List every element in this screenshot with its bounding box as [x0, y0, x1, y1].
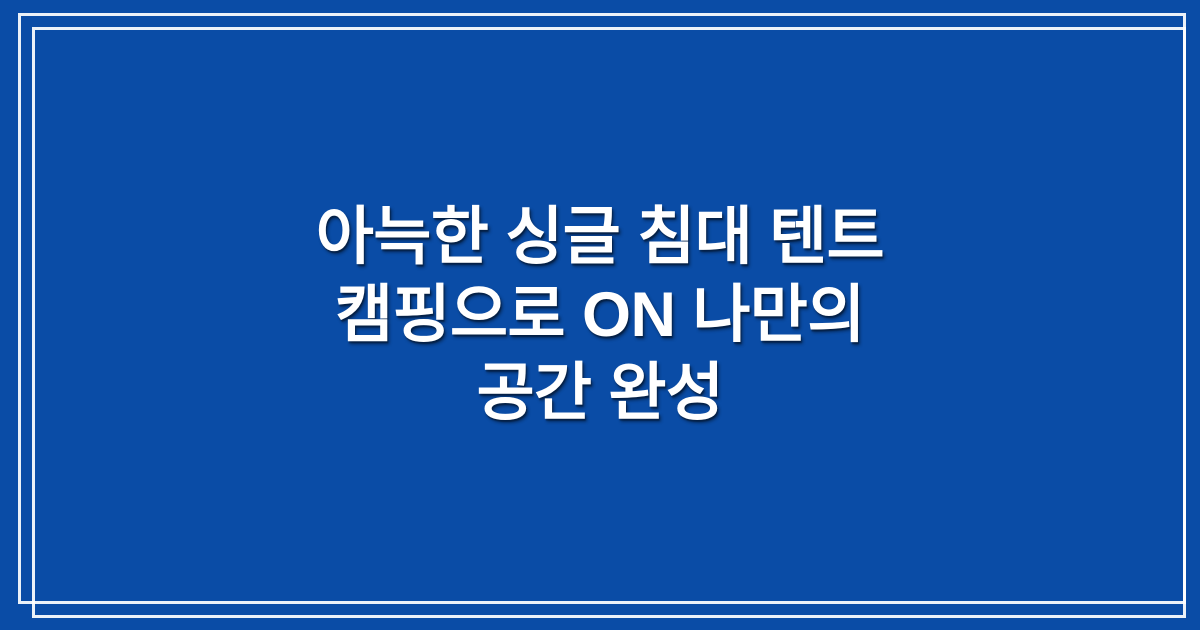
headline-line-1: 아늑한 싱글 침대 텐트: [90, 198, 1110, 276]
headline-line-2: 캠핑으로 ON 나만의: [90, 276, 1110, 354]
headline-line-3: 공간 완성: [90, 354, 1110, 432]
headline-block: 아늑한 싱글 침대 텐트 캠핑으로 ON 나만의 공간 완성: [0, 0, 1200, 630]
promo-banner: 아늑한 싱글 침대 텐트 캠핑으로 ON 나만의 공간 완성: [0, 0, 1200, 630]
